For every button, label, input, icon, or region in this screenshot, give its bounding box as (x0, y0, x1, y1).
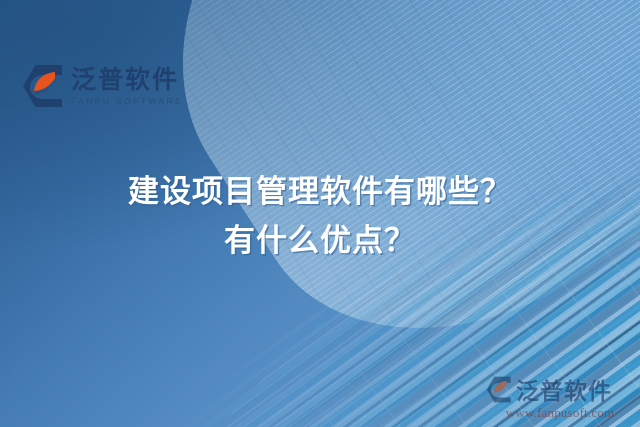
headline: 建设项目管理软件有哪些？ 有什么优点？ (0, 168, 640, 266)
brand-logo: 泛普软件 FANPU SOFTWARE (22, 64, 183, 108)
brand-name-en: FANPU SOFTWARE (71, 97, 183, 106)
headline-line-2: 有什么优点？ (0, 217, 640, 266)
headline-line-1: 建设项目管理软件有哪些？ (128, 174, 512, 210)
promo-banner: 泛普软件 FANPU SOFTWARE 建设项目管理软件有哪些？ 有什么优点？ … (0, 0, 640, 427)
fanpu-logo-mark-icon (22, 64, 64, 108)
brand-logo-wordmark: 泛普软件 FANPU SOFTWARE (71, 67, 183, 106)
brand-name-cn: 泛普软件 (71, 67, 183, 92)
